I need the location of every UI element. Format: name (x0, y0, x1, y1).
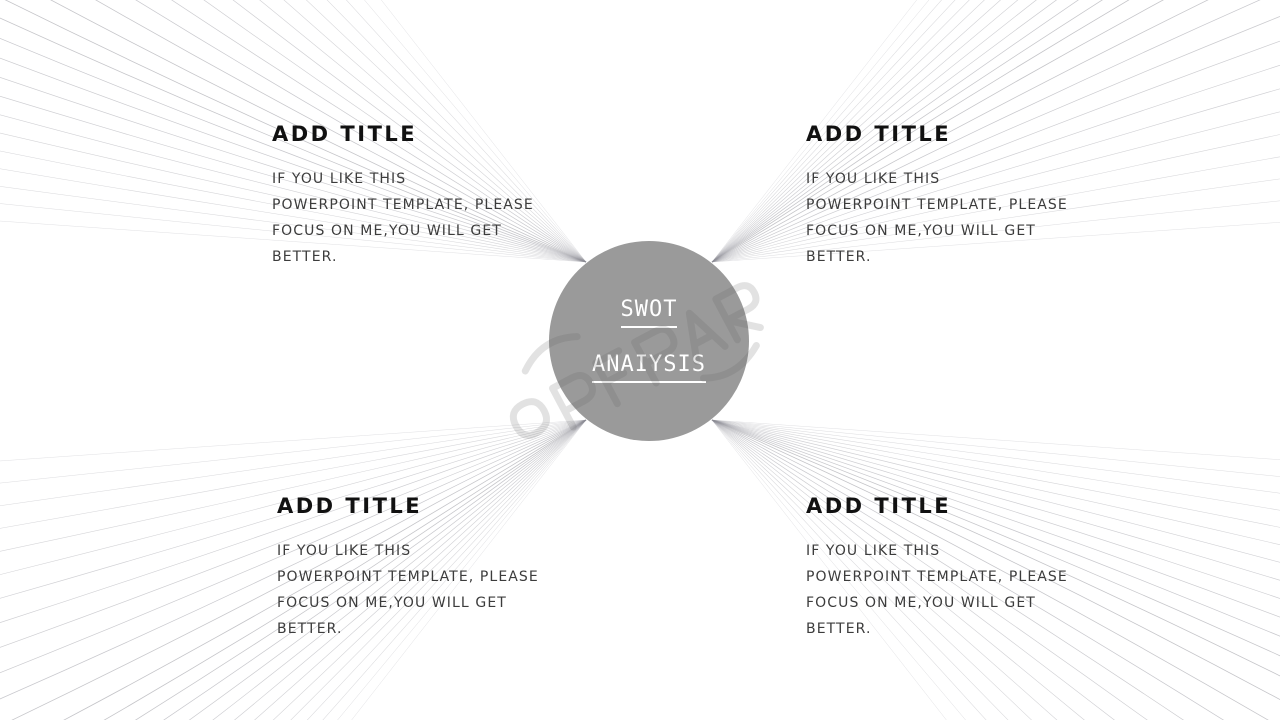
body-line: FOCUS ON ME,YOU WILL GET (272, 218, 602, 244)
center-circle-inner: SWOT ANAIYSIS (549, 241, 749, 441)
body-line: BETTER. (272, 244, 602, 270)
body-line: IF YOU LIKE THIS (272, 166, 602, 192)
quadrant-bottom-left: ADD TITLE IF YOU LIKE THIS POWERPOINT TE… (277, 494, 607, 642)
quadrant-title: ADD TITLE (806, 122, 1136, 146)
body-line: POWERPOINT TEMPLATE, PLEASE (806, 564, 1136, 590)
body-line: BETTER. (806, 616, 1136, 642)
quadrant-title: ADD TITLE (806, 494, 1136, 518)
body-line: FOCUS ON ME,YOU WILL GET (277, 590, 607, 616)
center-label-line2: ANAIYSIS (592, 354, 706, 383)
body-line: POWERPOINT TEMPLATE, PLEASE (806, 192, 1136, 218)
quadrant-body: IF YOU LIKE THIS POWERPOINT TEMPLATE, PL… (277, 538, 607, 642)
body-line: BETTER. (806, 244, 1136, 270)
body-line: IF YOU LIKE THIS (806, 538, 1136, 564)
quadrant-title: ADD TITLE (277, 494, 607, 518)
quadrant-body: IF YOU LIKE THIS POWERPOINT TEMPLATE, PL… (806, 538, 1136, 642)
center-circle: SWOT ANAIYSIS (549, 241, 749, 441)
quadrant-top-left: ADD TITLE IF YOU LIKE THIS POWERPOINT TE… (272, 122, 602, 270)
quadrant-title: ADD TITLE (272, 122, 602, 146)
body-line: IF YOU LIKE THIS (277, 538, 607, 564)
center-label-line1: SWOT (621, 299, 678, 328)
body-line: IF YOU LIKE THIS (806, 166, 1136, 192)
quadrant-body: IF YOU LIKE THIS POWERPOINT TEMPLATE, PL… (806, 166, 1136, 270)
quadrant-body: IF YOU LIKE THIS POWERPOINT TEMPLATE, PL… (272, 166, 602, 270)
body-line: POWERPOINT TEMPLATE, PLEASE (272, 192, 602, 218)
swot-slide: SWOT ANAIYSIS ADD TITLE IF YOU LIKE THIS… (0, 0, 1280, 720)
body-line: FOCUS ON ME,YOU WILL GET (806, 218, 1136, 244)
body-line: BETTER. (277, 616, 607, 642)
quadrant-bottom-right: ADD TITLE IF YOU LIKE THIS POWERPOINT TE… (806, 494, 1136, 642)
quadrant-top-right: ADD TITLE IF YOU LIKE THIS POWERPOINT TE… (806, 122, 1136, 270)
body-line: FOCUS ON ME,YOU WILL GET (806, 590, 1136, 616)
body-line: POWERPOINT TEMPLATE, PLEASE (277, 564, 607, 590)
